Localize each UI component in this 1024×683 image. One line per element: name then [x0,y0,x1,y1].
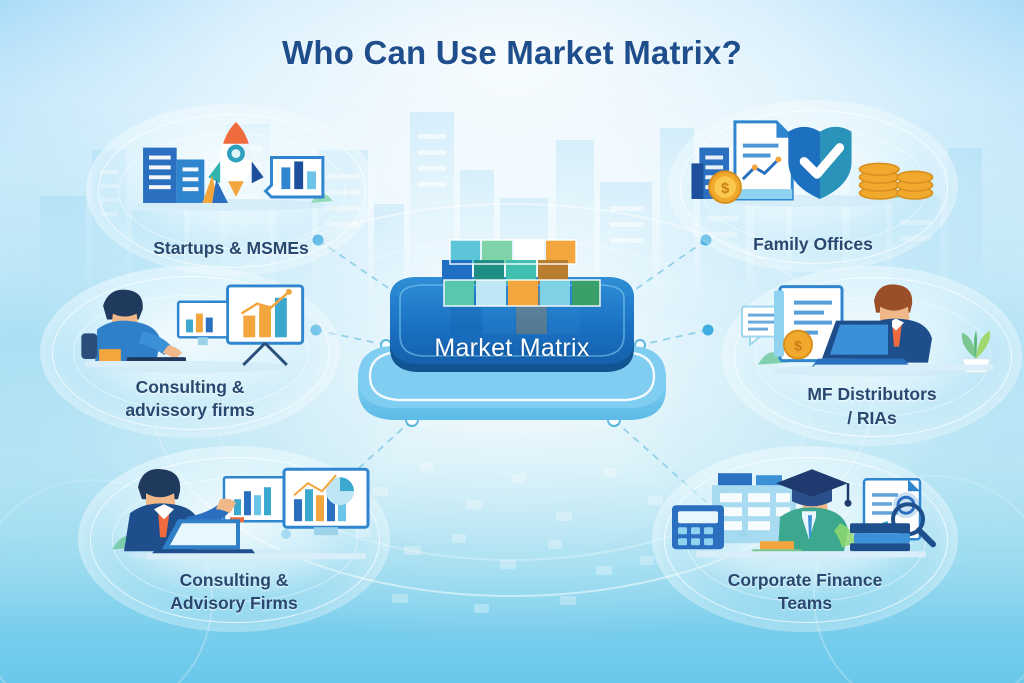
node-mf-distributors-rias[interactable]: $ [722,266,1022,446]
books-stack [850,523,910,551]
svg-text:$: $ [721,181,730,197]
node-caption: Consulting & Advisory Firms [78,569,390,616]
caption-line: Family Offices [668,233,958,256]
node-startups-msmes[interactable]: Startups & MSMEs [86,104,376,276]
caption-line: Consulting & [78,569,390,592]
caption-line: MF Distributors [722,383,1022,406]
infographic-canvas: Who Can Use Market Matrix? [0,0,1024,683]
caption-line: / RIAs [722,407,1022,430]
graduate-with-calculator-and-books-icon [652,461,958,561]
page-title: Who Can Use Market Matrix? [0,34,1024,72]
chart-card [266,157,323,197]
shield-check-icon [788,127,851,199]
document-icon [735,122,792,199]
caption-line: Teams [652,592,958,615]
caption-line: Startups & MSMEs [86,237,376,260]
caption-line: Corporate Finance [652,569,958,592]
calculator-icon [672,505,724,549]
node-consulting-advisory-firms-bottom[interactable]: Consulting & Advisory Firms [78,446,390,632]
node-consulting-advisory-firms-left[interactable]: Consulting & advissory firms [40,266,340,438]
svg-text:$: $ [794,338,802,354]
coin-icon: $ [709,171,741,203]
node-corporate-finance-teams[interactable]: Corporate Finance Teams [652,446,958,632]
node-caption: MF Distributors / RIAs [722,383,1022,430]
person [81,289,192,366]
caption-line: Consulting & [40,376,340,399]
rocket-and-office-buildings-icon [86,118,376,211]
node-caption: Consulting & advissory firms [40,376,340,423]
caption-line: Advisory Firms [78,592,390,615]
isometric-cube-grid-icon [442,240,600,334]
screen-small [224,477,286,522]
analyst-at-desk-with-chart-board-icon [40,280,340,373]
hub-platform-graphic [334,228,690,438]
caption-line: advissory firms [40,399,340,422]
node-caption: Startups & MSMEs [86,237,376,260]
coin-stack-icon [859,163,932,199]
document-shield-check-coins-icon: $ [668,114,958,207]
hub-platform[interactable]: Market Matrix [334,228,690,438]
node-caption: Family Offices [668,233,958,256]
monitor [178,301,227,344]
advisor-with-laptop-and-report-icon: $ [722,280,1022,377]
cube-row-bottom [444,280,600,306]
businessman-with-dashboard-screens-icon [78,461,390,561]
node-family-offices[interactable]: $ Family Offices [668,100,958,272]
chart-board [228,286,303,365]
screen-large [284,469,368,535]
node-caption: Corporate Finance Teams [652,569,958,616]
